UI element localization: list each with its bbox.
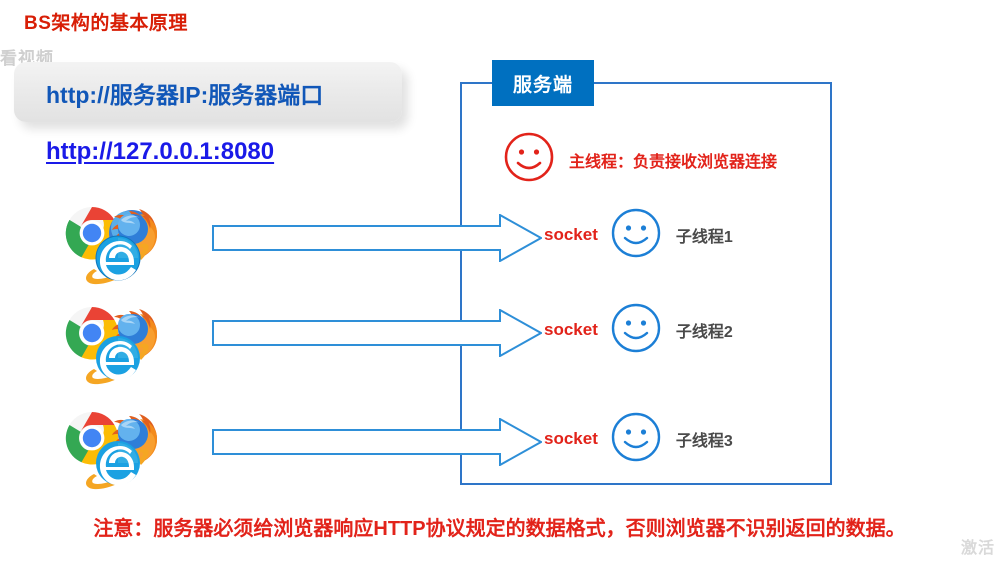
main-thread-label: 主线程：负责接收浏览器连接 — [569, 148, 777, 172]
thread-label-3: 子线程3 — [676, 427, 733, 451]
connection-arrow-1 — [212, 214, 542, 267]
socket-label-2: socket — [544, 320, 598, 340]
socket-label-1: socket — [544, 225, 598, 245]
page-title: BS架构的基本原理 — [24, 8, 188, 35]
slide-canvas: 看视频 激活 BS架构的基本原理 http://服务器IP:服务器端口 http… — [0, 0, 999, 562]
thread-label-2: 子线程2 — [676, 318, 733, 342]
bottom-note: 注意：服务器必须给浏览器响应HTTP协议规定的数据格式，否则浏览器不识别返回的数… — [0, 512, 999, 541]
internet-explorer-icon — [84, 329, 150, 390]
server-tag-badge: 服务端 — [492, 60, 594, 106]
smiley-face-icon — [503, 131, 555, 188]
thread-label-1: 子线程1 — [676, 223, 733, 247]
internet-explorer-icon — [84, 229, 150, 290]
browser-cluster-row-3 — [62, 408, 182, 490]
browser-cluster-row-2 — [62, 303, 182, 385]
connection-arrow-3 — [212, 418, 542, 471]
thread-row-2: socket 子线程2 — [544, 303, 733, 357]
connection-arrow-2 — [212, 309, 542, 362]
socket-label-3: socket — [544, 429, 598, 449]
internet-explorer-icon — [84, 434, 150, 495]
server-tag-label: 服务端 — [513, 70, 573, 97]
thread-row-1: socket 子线程1 — [544, 208, 733, 262]
thread-row-3: socket 子线程3 — [544, 412, 733, 466]
smiley-face-icon — [610, 411, 662, 468]
url-pattern-text: http://服务器IP:服务器端口 — [46, 76, 323, 110]
smiley-face-icon — [610, 302, 662, 359]
browser-cluster-row-1 — [62, 203, 182, 285]
smiley-face-icon — [610, 207, 662, 264]
url-example-link[interactable]: http://127.0.0.1:8080 — [46, 138, 274, 166]
main-thread-row: 主线程：负责接收浏览器连接 — [503, 131, 777, 188]
